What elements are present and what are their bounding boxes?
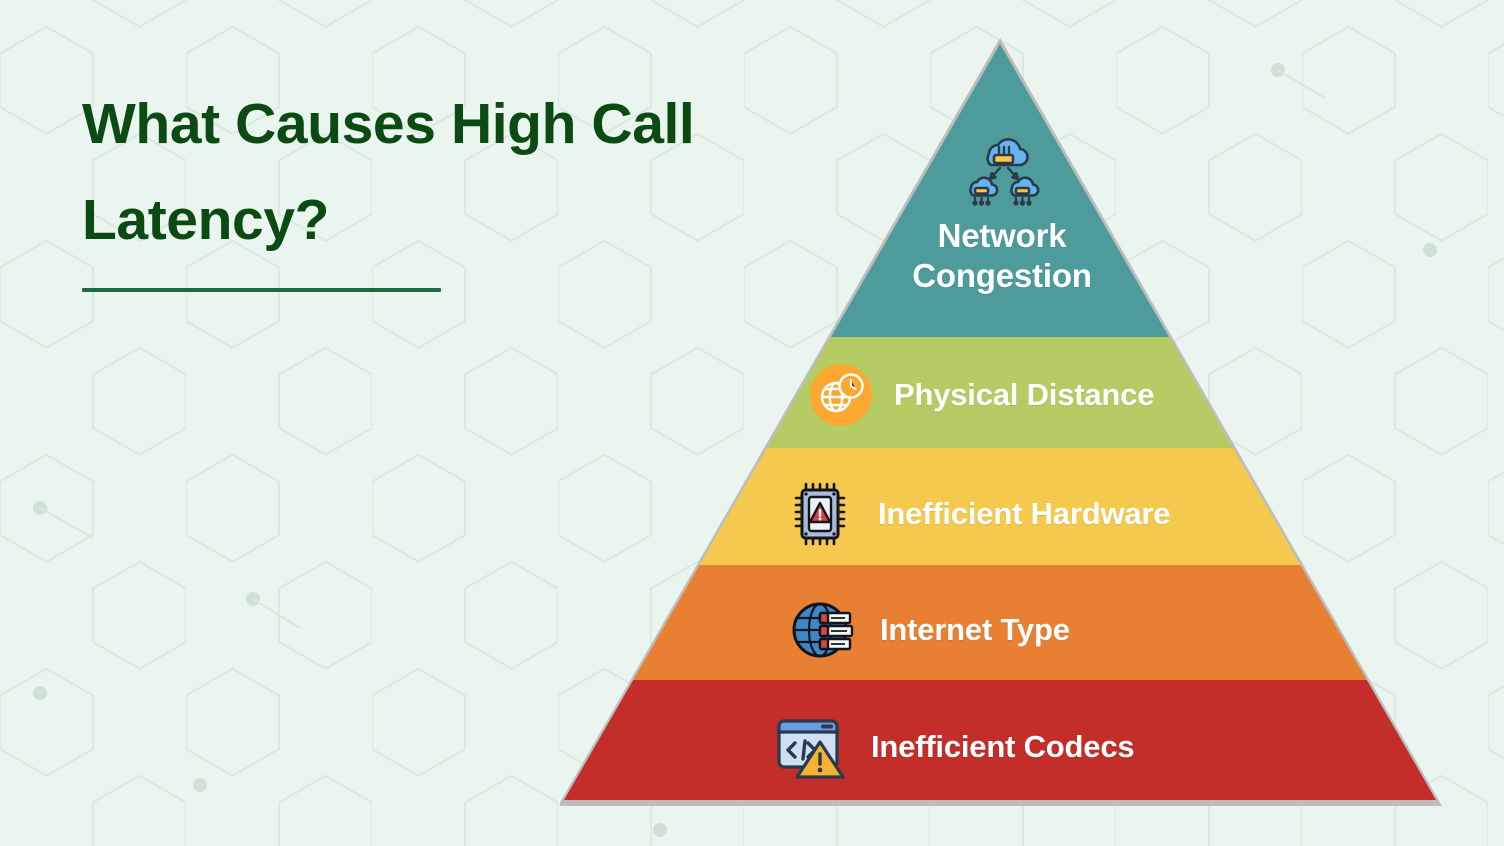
cloud-network-icon [964,132,1040,206]
pyramid-level-internet-type[interactable]: Internet Type [790,595,1070,665]
cpu-warning-icon [790,480,856,548]
pyramid-level-inefficient-hardware[interactable]: Inefficient Hardware [790,479,1170,549]
pyramid-level-label-4: Inefficient Codecs [871,731,1134,763]
globe-clock-icon [810,364,872,426]
pyramid-level-physical-distance[interactable]: Physical Distance [810,362,1154,428]
latency-causes-pyramid: Network Congestion Physical Distance [560,36,1444,812]
code-window-warning-icon [775,713,847,781]
pyramid-level-inefficient-codecs[interactable]: Inefficient Codecs [775,710,1134,784]
pyramid-level-network-congestion[interactable]: Network Congestion [560,132,1444,295]
pyramid-level-label-0: Network Congestion [912,216,1091,295]
pyramid-level-label-3: Internet Type [880,614,1070,646]
globe-server-icon [790,598,858,662]
pyramid-level-label-1: Physical Distance [894,379,1154,411]
infographic-canvas: What Causes High Call Latency? [0,0,1504,846]
title-underline-rule [82,288,441,292]
pyramid-level-label-2: Inefficient Hardware [878,498,1170,530]
